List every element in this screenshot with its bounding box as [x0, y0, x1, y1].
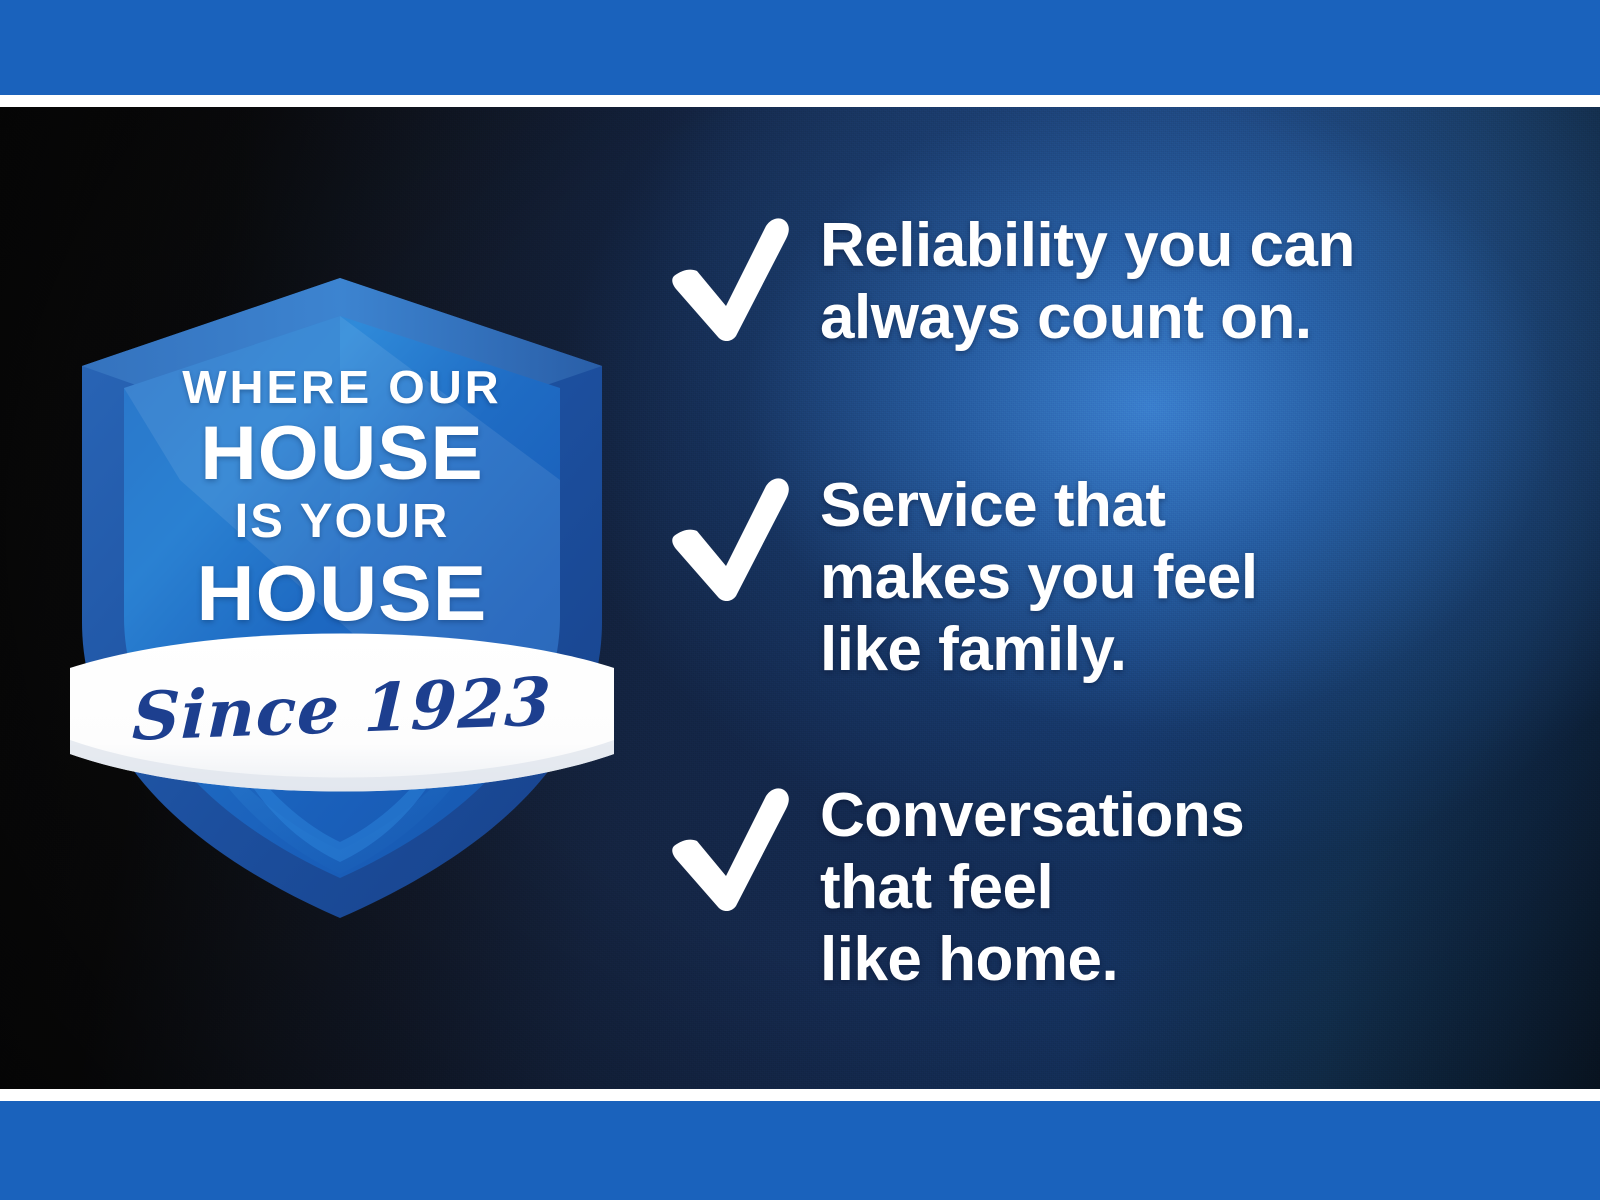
shield-graphic [62, 270, 622, 930]
list-item: Conversations that feel like home. [660, 780, 1560, 996]
benefits-list: Reliability you can always count on. Ser… [660, 107, 1560, 1089]
check-cell [660, 470, 820, 602]
benefit-text: Reliability you can always count on. [820, 210, 1560, 354]
check-cell [660, 780, 820, 912]
benefit-text: Conversations that feel like home. [820, 780, 1560, 996]
list-item: Service that makes you feel like family. [660, 470, 1560, 686]
brand-logo: WHERE OUR HOUSE IS YOUR HOUSE Since 1923 [62, 270, 622, 930]
checkmark-icon [660, 214, 790, 342]
list-item: Reliability you can always count on. [660, 210, 1560, 354]
top-brand-bar [0, 0, 1600, 95]
checkmark-icon [660, 784, 790, 912]
top-white-divider [0, 95, 1600, 107]
main-stage: WHERE OUR HOUSE IS YOUR HOUSE Since 1923… [0, 107, 1600, 1089]
checkmark-icon [660, 474, 790, 602]
benefit-text: Service that makes you feel like family. [820, 470, 1560, 686]
check-cell [660, 210, 820, 342]
bottom-brand-bar [0, 1101, 1600, 1200]
bottom-white-divider [0, 1089, 1600, 1101]
promo-graphic-canvas: WHERE OUR HOUSE IS YOUR HOUSE Since 1923… [0, 0, 1600, 1200]
